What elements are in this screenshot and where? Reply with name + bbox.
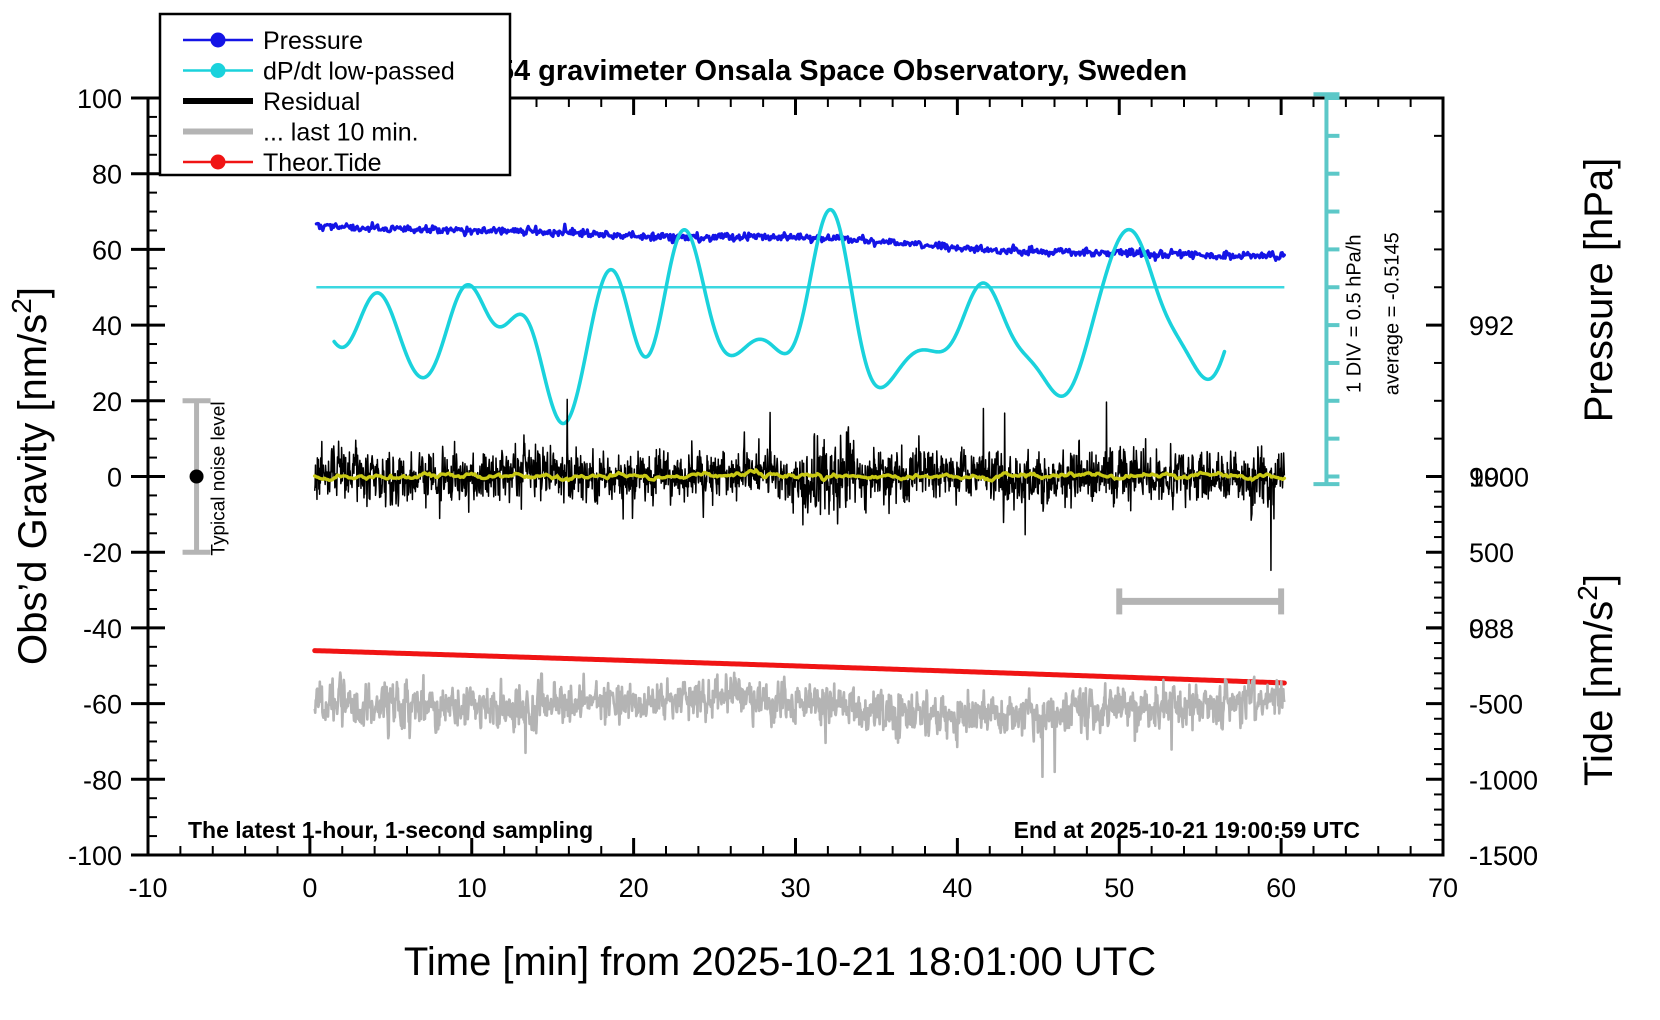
x-tick-label: 10 <box>457 873 487 903</box>
tide-tick-label: 1000 <box>1469 463 1529 493</box>
x-tick-label: 0 <box>302 873 317 903</box>
x-tick-label: 70 <box>1428 873 1458 903</box>
y-tick-label: -100 <box>68 841 122 871</box>
x-tick-label: 50 <box>1104 873 1134 903</box>
y-tick-label: -40 <box>83 614 122 644</box>
footer-right-note: End at 2025-10-21 19:00:59 UTC <box>1014 817 1360 843</box>
tide-tick-label: -1000 <box>1469 765 1538 795</box>
pressure-tick-label: 992 <box>1469 311 1514 341</box>
legend-item-label: dP/dt low-passed <box>263 58 455 86</box>
y-tick-label: 40 <box>92 311 122 341</box>
tide-tick-label: -500 <box>1469 690 1523 720</box>
y-tick-label: -80 <box>83 765 122 795</box>
y-axis-tide-label: Tide [nm/s2] <box>1572 574 1622 786</box>
legend-item-label: ... last 10 min. <box>263 119 419 147</box>
y-tick-label: 80 <box>92 160 122 190</box>
page-title: SCG_054 gravimeter Onsala Space Observat… <box>403 55 1187 87</box>
x-tick-label: 30 <box>780 873 810 903</box>
y-tick-label: 100 <box>77 84 122 114</box>
tide-tick-label: 0 <box>1469 614 1484 644</box>
x-tick-label: 20 <box>619 873 649 903</box>
typical-noise-level-label: Typical noise level <box>209 401 230 555</box>
x-tick-label: 40 <box>942 873 972 903</box>
legend-item-label: Residual <box>263 88 360 116</box>
y-tick-label: 60 <box>92 235 122 265</box>
gravimeter-chart: -100-80-60-40-20020406080100 -1001020304… <box>0 0 1660 1020</box>
y-axis-pressure-label: Pressure [hPa] <box>1577 158 1621 423</box>
tide-tick-label: -1500 <box>1469 841 1538 871</box>
x-tick-label: 60 <box>1266 873 1296 903</box>
y-tick-label: 20 <box>92 387 122 417</box>
x-tick-label: -10 <box>128 873 167 903</box>
legend-item-label: Pressure <box>263 27 363 55</box>
legend-item-label: Theor.Tide <box>263 149 382 177</box>
scale-bar-label-average: average = -0.5145 <box>1381 232 1403 395</box>
x-axis-label: Time [min] from 2025-10-21 18:01:00 UTC <box>404 940 1156 984</box>
y-tick-label: 0 <box>107 463 122 493</box>
chart-legend: PressuredP/dt low-passedResidual... last… <box>160 14 510 177</box>
y-tick-label: -60 <box>83 690 122 720</box>
y-tick-label: -20 <box>83 538 122 568</box>
scale-bar-label-div: 1 DIV = 0.5 hPa/h <box>1343 235 1365 393</box>
footer-left-note: The latest 1-hour, 1-second sampling <box>188 817 593 843</box>
y-axis-label: Obs’d Gravity [nm/s2] <box>6 287 56 665</box>
tide-tick-label: 500 <box>1469 538 1514 568</box>
